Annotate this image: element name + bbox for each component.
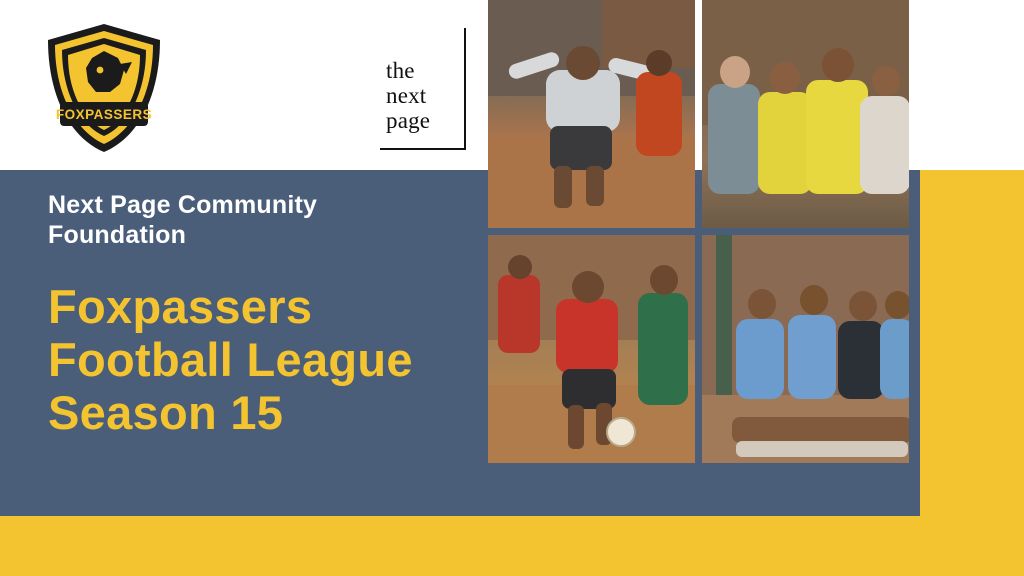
organization-name: Next Page Community Foundation xyxy=(48,190,408,250)
poster-canvas: FOXPASSERS the next page Next Page Commu… xyxy=(0,0,1024,576)
mark-line-3: page xyxy=(386,108,430,133)
photo-group-yellow-jerseys xyxy=(702,0,909,228)
photo-girls-team-seated xyxy=(702,235,909,463)
logo-wordmark: FOXPASSERS xyxy=(56,107,152,122)
mark-vertical-rule xyxy=(464,28,466,150)
mark-wordmark: the next page xyxy=(386,58,430,133)
photo-dribbling-player xyxy=(488,235,695,463)
photo-collage xyxy=(488,0,916,460)
mark-line-1: the xyxy=(386,58,430,83)
mark-horizontal-rule xyxy=(380,148,466,150)
mark-line-2: next xyxy=(386,83,430,108)
poster-headline: Foxpassers Football League Season 15 xyxy=(48,280,448,439)
foxpassers-logo: FOXPASSERS xyxy=(34,18,174,158)
photo-boy-celebrating xyxy=(488,0,695,228)
the-next-page-mark: the next page xyxy=(380,28,466,150)
